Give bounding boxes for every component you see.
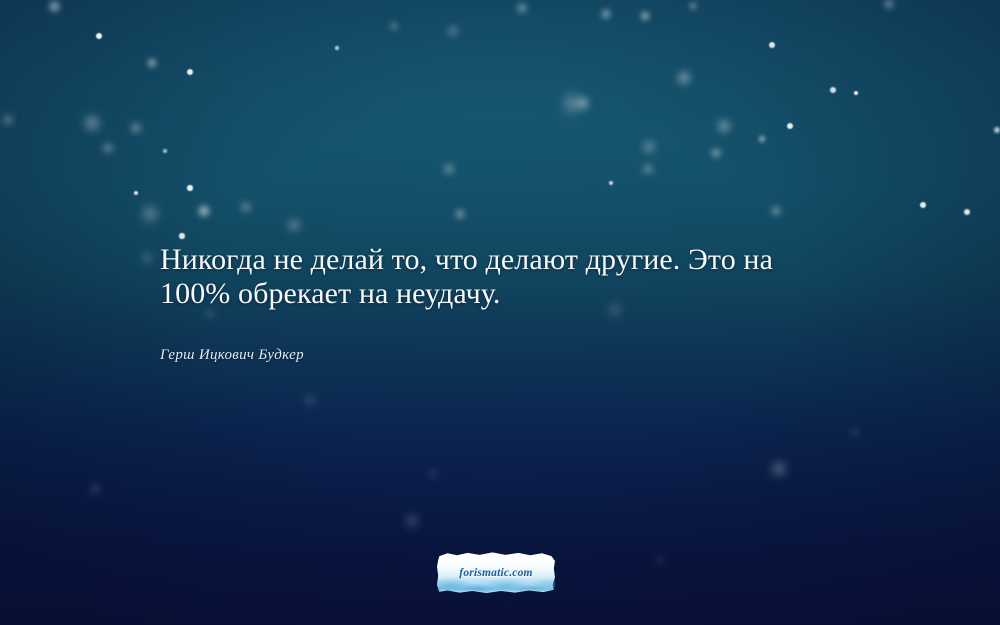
bokeh-particle [920, 202, 926, 208]
bokeh-particle [759, 136, 765, 142]
bokeh-particle [644, 165, 652, 173]
bokeh-particle [306, 396, 314, 404]
bokeh-particle [242, 203, 250, 211]
forismatic-logo[interactable]: forismatic.com [437, 552, 555, 593]
bokeh-particle [609, 181, 613, 185]
bokeh-particle [719, 121, 729, 131]
bokeh-particle [86, 117, 98, 129]
bokeh-particle [445, 165, 454, 174]
bokeh-particle [143, 254, 151, 262]
bokeh-particle [179, 233, 184, 238]
bokeh-particle [578, 98, 587, 107]
bokeh-particle [679, 73, 689, 83]
bokeh-particle [994, 127, 1000, 133]
quote-card: Никогда не делай то, что делают другие. … [0, 0, 1000, 625]
bokeh-particle [187, 69, 193, 75]
bokeh-particle [712, 149, 720, 157]
bokeh-particle [335, 46, 338, 49]
bokeh-particle [144, 208, 156, 220]
bokeh-particle [657, 557, 664, 564]
bokeh-particle [772, 207, 780, 215]
bokeh-particle [449, 27, 457, 35]
quote-author: Герш Ицкович Будкер [160, 346, 830, 364]
bokeh-particle [690, 3, 697, 10]
bokeh-particle [641, 12, 648, 19]
bokeh-particle [4, 116, 12, 124]
bokeh-particle [787, 123, 793, 129]
bokeh-particle [96, 33, 102, 39]
bokeh-particle [187, 185, 192, 190]
bokeh-particle [289, 220, 299, 230]
bokeh-particle [430, 471, 437, 478]
bokeh-particle [602, 10, 610, 18]
bokeh-particle [769, 42, 775, 48]
bokeh-particle [148, 59, 155, 66]
bokeh-particle [91, 485, 98, 492]
bokeh-particle [132, 124, 141, 133]
bokeh-particle [565, 96, 580, 111]
bokeh-particle [163, 149, 166, 152]
bokeh-particle [854, 91, 859, 96]
bokeh-particle [456, 210, 464, 218]
bokeh-particle [885, 0, 893, 8]
bokeh-particle [199, 206, 208, 215]
logo-label: forismatic.com [437, 567, 555, 579]
bokeh-particle [391, 23, 398, 30]
bokeh-particle [518, 4, 525, 11]
quote-text: Никогда не делай то, что делают другие. … [160, 243, 830, 311]
bokeh-particle [104, 144, 112, 152]
bokeh-particle [773, 463, 785, 475]
bokeh-particle [134, 191, 138, 195]
bokeh-particle [964, 209, 971, 216]
bokeh-particle [407, 516, 417, 526]
bokeh-particle [644, 142, 654, 152]
quote-block: Никогда не делай то, что делают другие. … [160, 243, 830, 364]
bokeh-particle [830, 87, 836, 93]
bokeh-particle [50, 2, 59, 11]
bokeh-particle [852, 429, 858, 435]
